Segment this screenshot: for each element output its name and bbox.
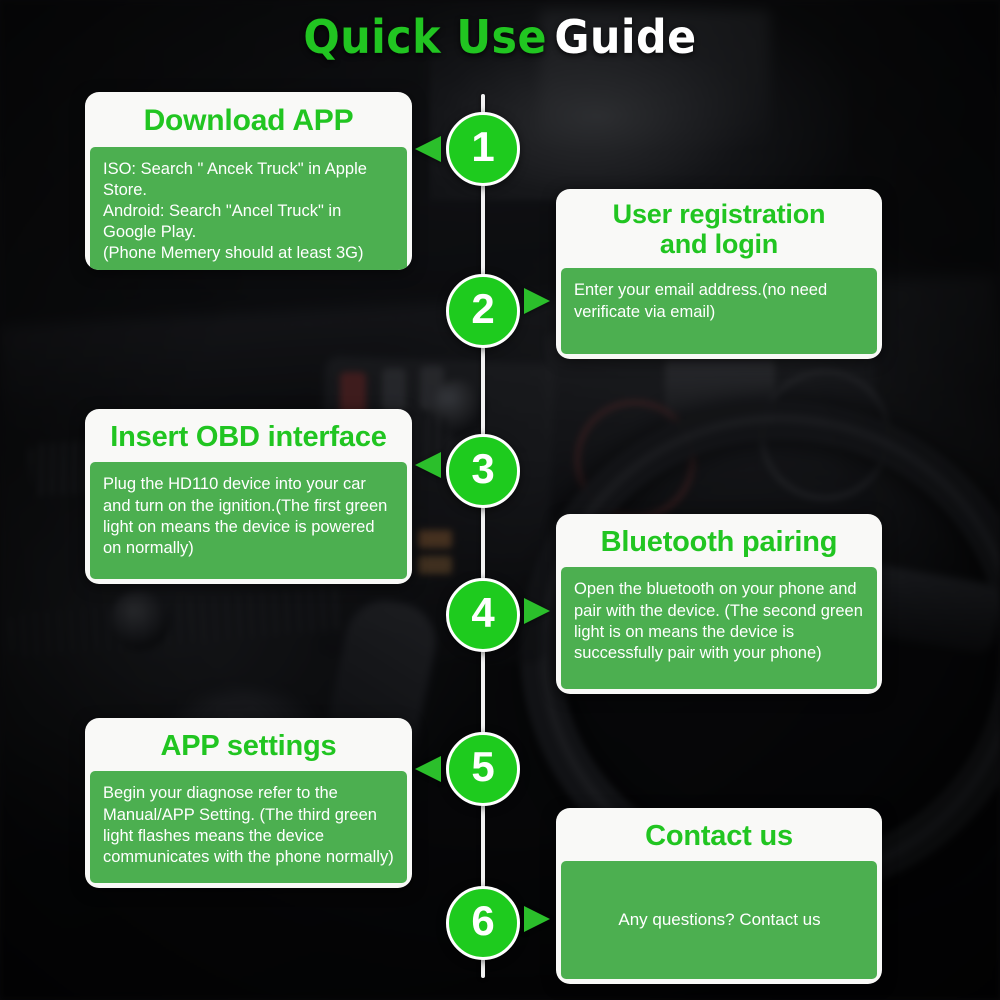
step-arrow-2-icon: [524, 288, 550, 314]
page-title: Quick UseGuide: [35, 14, 965, 60]
step-card-3-title: Insert OBD interface: [90, 414, 407, 462]
step-card-1[interactable]: Download APP ISO: Search " Ancek Truck" …: [85, 92, 412, 270]
page-title-white: Guide: [554, 10, 696, 64]
step-card-6[interactable]: Contact us Any questions? Contact us: [556, 808, 882, 984]
timeline-spine: [481, 94, 485, 978]
step-badge-4-number: 4: [471, 592, 494, 634]
step-badge-2[interactable]: 2: [446, 274, 520, 348]
step-card-3-body: Plug the HD110 device into your car and …: [90, 462, 407, 579]
step-badge-3-number: 3: [471, 448, 494, 490]
step-card-5[interactable]: APP settings Begin your diagnose refer t…: [85, 718, 412, 888]
step-arrow-3-icon: [415, 452, 441, 478]
step-badge-1-number: 1: [471, 126, 494, 168]
step-card-3[interactable]: Insert OBD interface Plug the HD110 devi…: [85, 409, 412, 584]
step-arrow-6-icon: [524, 906, 550, 932]
step-badge-3[interactable]: 3: [446, 434, 520, 508]
page-title-green: Quick Use: [303, 10, 547, 64]
step-card-4-body: Open the bluetooth on your phone and pai…: [561, 567, 877, 689]
step-card-6-title: Contact us: [561, 813, 877, 861]
step-card-1-body: ISO: Search " Ancek Truck" in Apple Stor…: [90, 147, 407, 270]
step-card-4-title: Bluetooth pairing: [561, 519, 877, 567]
step-badge-6[interactable]: 6: [446, 886, 520, 960]
step-badge-4[interactable]: 4: [446, 578, 520, 652]
step-badge-5[interactable]: 5: [446, 732, 520, 806]
step-arrow-1-icon: [415, 136, 441, 162]
step-card-4[interactable]: Bluetooth pairing Open the bluetooth on …: [556, 514, 882, 694]
step-card-2[interactable]: User registration and login Enter your e…: [556, 189, 882, 359]
step-card-2-title: User registration and login: [561, 194, 877, 268]
step-card-5-title: APP settings: [90, 723, 407, 771]
step-card-2-body: Enter your email address.(no need verifi…: [561, 268, 877, 354]
step-card-6-body: Any questions? Contact us: [561, 861, 877, 979]
step-arrow-5-icon: [415, 756, 441, 782]
step-badge-1[interactable]: 1: [446, 112, 520, 186]
step-badge-2-number: 2: [471, 288, 494, 330]
step-card-1-title: Download APP: [90, 97, 407, 147]
step-badge-5-number: 5: [471, 746, 494, 788]
step-card-5-body: Begin your diagnose refer to the Manual/…: [90, 771, 407, 883]
step-arrow-4-icon: [524, 598, 550, 624]
infographic-stage: Quick UseGuide Download APP ISO: Search …: [0, 0, 1000, 1000]
step-badge-6-number: 6: [471, 900, 494, 942]
